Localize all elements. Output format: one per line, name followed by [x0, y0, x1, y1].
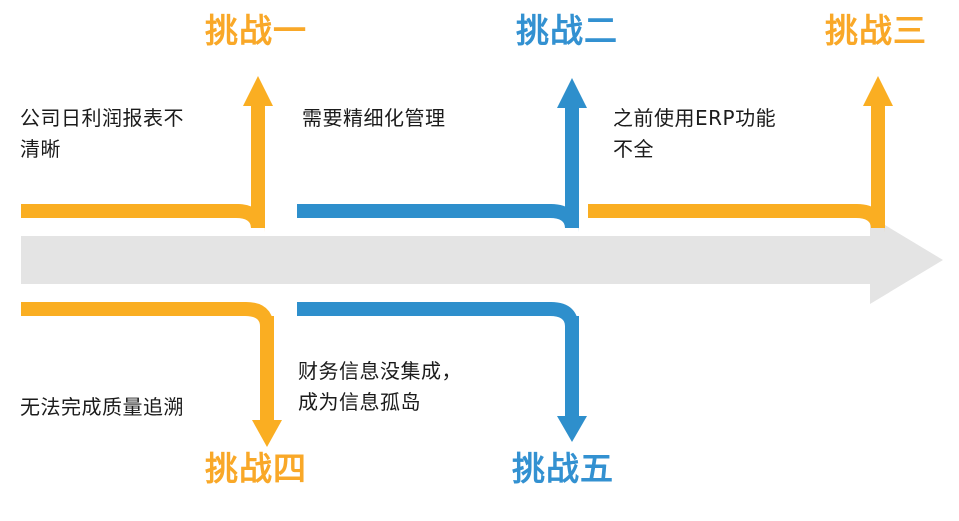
challenge-1-title: 挑战一	[205, 14, 307, 47]
challenge-4-caption: 无法完成质量追溯	[20, 392, 250, 423]
timeline-arrow	[21, 216, 943, 304]
challenge-3-caption: 之前使用ERP功能 不全	[613, 103, 838, 165]
challenge-4-arrow	[21, 302, 282, 447]
challenge-5-caption: 财务信息没集成， 成为信息孤岛	[298, 356, 513, 418]
challenge-2-arrow	[297, 78, 587, 232]
challenge-3-title: 挑战三	[825, 14, 927, 47]
challenge-5-title: 挑战五	[512, 452, 614, 485]
challenge-4-title: 挑战四	[205, 452, 307, 485]
challenge-2-caption: 需要精细化管理	[302, 103, 532, 134]
challenge-1-caption: 公司日利润报表不 清晰	[20, 103, 235, 165]
diagram-canvas: 挑战一 挑战二 挑战三 挑战四 挑战五 公司日利润报表不 清晰 需要精细化管理 …	[0, 0, 959, 521]
challenge-2-title: 挑战二	[516, 14, 618, 47]
challenges-arrow-diagram	[0, 0, 959, 521]
